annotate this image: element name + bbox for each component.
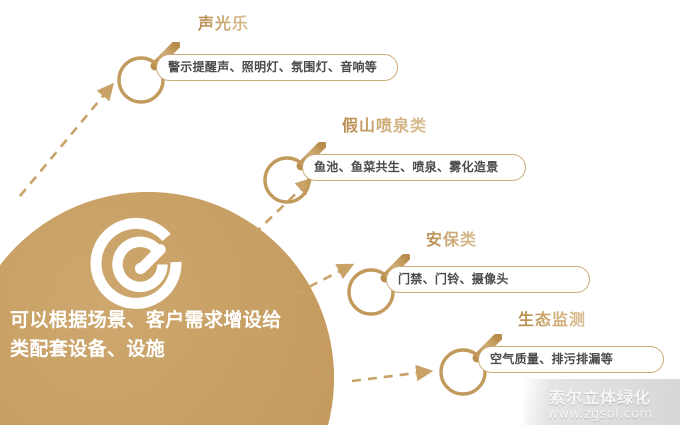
- item-description: 门禁、门铃、摄像头: [398, 266, 509, 293]
- item-rockery-fountain[interactable]: 假山喷泉类 鱼池、鱼菜共生、喷泉、雾化造景: [256, 112, 556, 204]
- item-title: 安保类: [426, 226, 477, 250]
- item-security[interactable]: 安保类 门禁、门铃、摄像头: [340, 226, 630, 318]
- infographic-canvas: 可以根据场景、客户需求增设给类配套设备、设施: [0, 0, 680, 425]
- watermark: 索尔立体绿化 www.zgsol.com: [524, 388, 676, 423]
- hero-caption: 可以根据场景、客户需求增设给类配套设备、设施: [10, 306, 296, 364]
- connector-arrow-4: [350, 366, 436, 386]
- item-description: 鱼池、鱼菜共生、喷泉、雾化造景: [314, 154, 499, 181]
- item-title: 生态监测: [518, 306, 586, 330]
- item-description: 警示提醒声、照明灯、氛围灯、音响等: [168, 54, 377, 81]
- watermark-brand: 索尔立体绿化: [524, 388, 676, 407]
- item-description: 空气质量、排污排漏等: [490, 346, 613, 373]
- item-title: 假山喷泉类: [342, 112, 427, 136]
- watermark-url: www.zgsol.com: [524, 407, 676, 423]
- item-title: 声光乐: [198, 10, 249, 34]
- item-sound-light-music[interactable]: 声光乐 警示提醒声、照明灯、氛围灯、音响等: [108, 10, 408, 102]
- company-c-logo-icon: [88, 216, 192, 320]
